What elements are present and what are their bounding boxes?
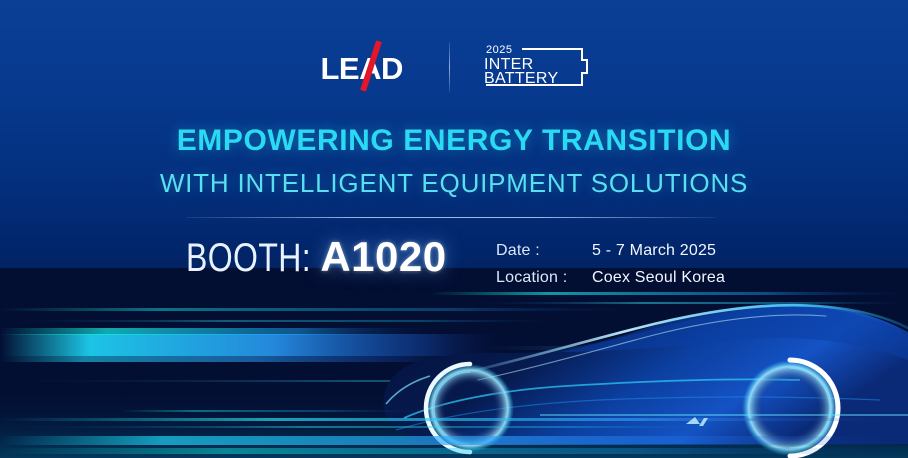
detail-date: Date : 5 - 7 March 2025: [496, 242, 725, 260]
booth-number: A1020: [320, 236, 446, 278]
lead-logo: LEAD: [321, 42, 421, 92]
detail-label: Date :: [496, 242, 592, 260]
section-divider: [186, 217, 716, 218]
booth-label: BOOTH:: [186, 238, 311, 278]
detail-value: Coex Seoul Korea: [592, 269, 725, 287]
logo-row: LEAD 2025 INTER BATTERY: [0, 40, 908, 94]
detail-value: 5 - 7 March 2025: [592, 242, 716, 260]
detail-label: Location :: [496, 269, 592, 287]
interbattery-logo: 2025 INTER BATTERY: [478, 40, 588, 94]
subheadline: WITH INTELLIGENT EQUIPMENT SOLUTIONS: [0, 168, 908, 199]
event-info-row: BOOTH: A1020 Date : 5 - 7 March 2025 Loc…: [186, 236, 746, 298]
lead-wordmark: LEAD: [321, 53, 403, 84]
svg-text:2025: 2025: [486, 44, 512, 56]
logo-divider: [449, 42, 450, 92]
event-promo-banner: LEAD 2025 INTER BATTERY EMPOWERING ENERG…: [0, 0, 908, 458]
event-details: Date : 5 - 7 March 2025 Location : Coex …: [496, 242, 725, 296]
booth-block: BOOTH: A1020: [186, 236, 447, 278]
detail-location: Location : Coex Seoul Korea: [496, 269, 725, 287]
headline: EMPOWERING ENERGY TRANSITION: [0, 124, 908, 158]
svg-text:BATTERY: BATTERY: [484, 70, 558, 87]
